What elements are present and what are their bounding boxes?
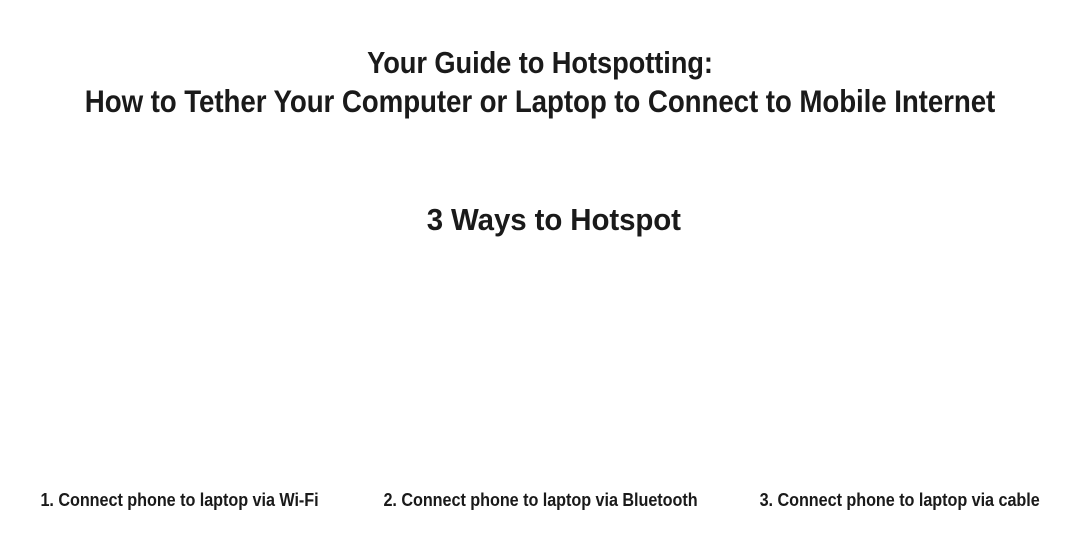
title-line-2: How to Tether Your Computer or Laptop to… — [65, 82, 1015, 120]
figure-cell-cable — [720, 256, 1080, 489]
caption-row: 1. Connect phone to laptop via Wi-Fi 2. … — [0, 489, 1080, 552]
caption-cell-3: 3. Connect phone to laptop via cable — [720, 489, 1080, 511]
wifi-tether-illustration — [180, 372, 181, 373]
subtitle-section: 3 Ways to Hotspot — [0, 202, 1080, 238]
figure-cell-wifi — [0, 256, 360, 489]
figure-cell-bluetooth — [360, 256, 720, 489]
caption-cell-1: 1. Connect phone to laptop via Wi-Fi — [0, 489, 360, 511]
page-title: Your Guide to Hotspotting: How to Tether… — [0, 0, 1080, 120]
caption-cell-2: 2. Connect phone to laptop via Bluetooth — [360, 489, 720, 511]
bluetooth-tether-illustration — [540, 372, 541, 373]
caption-cable: 3. Connect phone to laptop via cable — [760, 489, 1040, 511]
title-line-1: Your Guide to Hotspotting: — [65, 44, 1015, 82]
illustration-row — [0, 256, 1080, 489]
subtitle-heading: 3 Ways to Hotspot — [427, 202, 681, 238]
caption-wifi: 1. Connect phone to laptop via Wi-Fi — [41, 489, 319, 511]
caption-bluetooth: 2. Connect phone to laptop via Bluetooth — [383, 489, 697, 511]
infographic-page: Your Guide to Hotspotting: How to Tether… — [0, 0, 1080, 552]
cable-tether-illustration — [900, 372, 901, 373]
